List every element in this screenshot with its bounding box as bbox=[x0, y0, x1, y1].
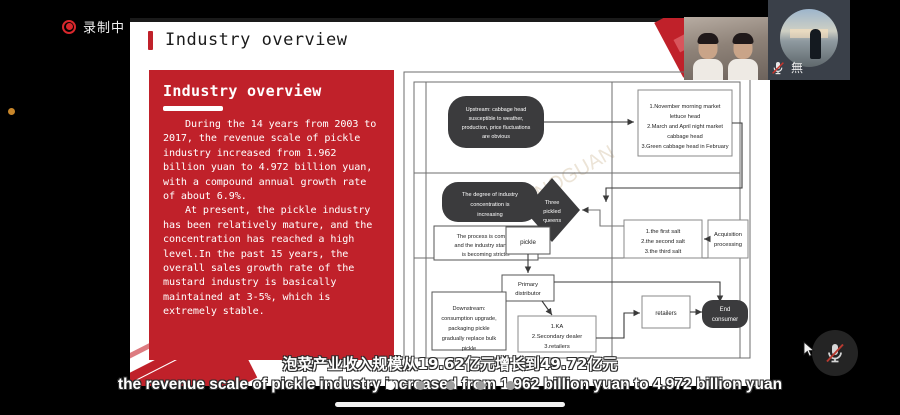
pager-dot-1[interactable] bbox=[386, 381, 395, 390]
recording-label: 录制中 bbox=[83, 17, 125, 36]
svg-text:Acquisition: Acquisition bbox=[714, 232, 742, 238]
record-dot-icon bbox=[62, 20, 76, 34]
svg-text:2.March and April night market: 2.March and April night market bbox=[647, 124, 723, 130]
svg-text:Three: Three bbox=[545, 200, 560, 206]
svg-text:3.Green cabbage head in Februa: 3.Green cabbage head in February bbox=[641, 144, 728, 150]
node-concentration: The degree of industry concentration is … bbox=[442, 182, 538, 222]
participant-tile-presenters[interactable] bbox=[684, 17, 768, 80]
slide-pager[interactable] bbox=[0, 381, 900, 390]
svg-text:processing: processing bbox=[714, 242, 742, 248]
svg-text:gradually replace bulk: gradually replace bulk bbox=[442, 336, 497, 342]
mouse-cursor bbox=[803, 341, 816, 363]
svg-text:pickle: pickle bbox=[520, 239, 536, 246]
mute-toggle-button[interactable] bbox=[812, 330, 858, 376]
pager-dot-2[interactable] bbox=[416, 381, 425, 390]
svg-text:consumption upgrade,: consumption upgrade, bbox=[441, 316, 497, 322]
svg-text:cabbage head: cabbage head bbox=[667, 134, 702, 140]
node-downstream-note: Downstream: consumption upgrade, packagi… bbox=[432, 292, 506, 352]
svg-text:consumer: consumer bbox=[712, 317, 738, 323]
home-indicator[interactable] bbox=[335, 402, 565, 407]
svg-text:1.KA: 1.KA bbox=[551, 324, 564, 330]
svg-text:2.Secondary dealer: 2.Secondary dealer bbox=[532, 334, 582, 340]
participant-meta: 無 bbox=[770, 59, 803, 76]
pager-dot-4[interactable] bbox=[476, 381, 485, 390]
svg-text:are obvious: are obvious bbox=[482, 134, 510, 140]
node-harvest-calendar: 1.November morning market lettuce head 2… bbox=[638, 90, 732, 156]
status-dot-icon bbox=[8, 108, 15, 115]
svg-text:3.retailers: 3.retailers bbox=[544, 344, 570, 350]
svg-text:Primary: Primary bbox=[518, 282, 538, 288]
mic-muted-icon bbox=[770, 60, 786, 76]
node-primary-distributor: Primary distributor bbox=[502, 275, 554, 301]
svg-text:2.the second salt: 2.the second salt bbox=[641, 239, 685, 245]
panel-underline bbox=[163, 106, 223, 111]
value-chain-diagram: NOGUAN Upstream: cabbage head susceptibl… bbox=[402, 70, 752, 360]
pager-dot-3[interactable] bbox=[446, 381, 455, 390]
recording-indicator: 录制中 bbox=[62, 17, 125, 36]
svg-text:increasing: increasing bbox=[477, 212, 503, 218]
svg-text:3.the third salt: 3.the third salt bbox=[645, 249, 682, 255]
node-upstream: Upstream: cabbage head susceptible to we… bbox=[448, 96, 544, 148]
svg-text:distributor: distributor bbox=[515, 291, 541, 297]
mic-muted-icon bbox=[822, 340, 848, 366]
participant-name: 無 bbox=[791, 59, 803, 76]
panel-paragraph-2: At present, the pickle industry has been… bbox=[163, 204, 382, 319]
presenter-a-figure bbox=[693, 34, 723, 80]
svg-text:packaging pickle: packaging pickle bbox=[448, 326, 489, 332]
svg-text:The degree of industry: The degree of industry bbox=[462, 192, 518, 198]
svg-text:lettuce head: lettuce head bbox=[670, 114, 700, 120]
svg-text:End: End bbox=[720, 307, 731, 313]
shared-slide: Industry overview Industry overview Duri… bbox=[130, 18, 770, 386]
svg-text:queens: queens bbox=[543, 218, 562, 224]
svg-text:susceptible to weather,: susceptible to weather, bbox=[469, 116, 524, 122]
svg-text:1.the first salt: 1.the first salt bbox=[646, 229, 681, 235]
node-acquisition: Acquisition processing bbox=[708, 220, 748, 258]
page-title: Industry overview bbox=[165, 30, 348, 50]
pager-dot-5[interactable] bbox=[506, 381, 515, 390]
svg-text:is becoming stricter: is becoming stricter bbox=[462, 252, 510, 258]
slide-header: Industry overview bbox=[148, 30, 348, 50]
svg-text:retailers: retailers bbox=[655, 311, 676, 317]
node-pickle: pickle bbox=[506, 227, 550, 254]
svg-text:concentration is: concentration is bbox=[470, 202, 509, 208]
svg-text:1.November morning market: 1.November morning market bbox=[650, 104, 721, 110]
svg-text:Upstream: cabbage head: Upstream: cabbage head bbox=[466, 107, 527, 113]
participant-tile-avatar[interactable]: 無 bbox=[768, 0, 850, 80]
node-end-consumer: End consumer bbox=[702, 300, 748, 328]
header-accent-bar bbox=[148, 31, 153, 50]
overview-text-panel: Industry overview During the 14 years fr… bbox=[149, 70, 394, 360]
presenter-b-figure bbox=[728, 34, 758, 80]
svg-text:production, price fluctuations: production, price fluctuations bbox=[462, 125, 531, 131]
svg-text:pickle: pickle bbox=[462, 346, 476, 352]
svg-text:Downstream:: Downstream: bbox=[453, 306, 486, 312]
panel-paragraph-1: During the 14 years from 2003 to 2017, t… bbox=[163, 118, 382, 204]
node-retailers: retailers bbox=[642, 296, 690, 328]
svg-text:pickled: pickled bbox=[543, 209, 560, 215]
node-channels: 1.KA 2.Secondary dealer 3.retailers bbox=[518, 316, 596, 352]
node-salt-steps: 1.the first salt 2.the second salt 3.the… bbox=[624, 220, 702, 258]
panel-title: Industry overview bbox=[163, 82, 382, 100]
meeting-screen-share-view: 录制中 Industry overview Industry overview … bbox=[0, 0, 900, 415]
